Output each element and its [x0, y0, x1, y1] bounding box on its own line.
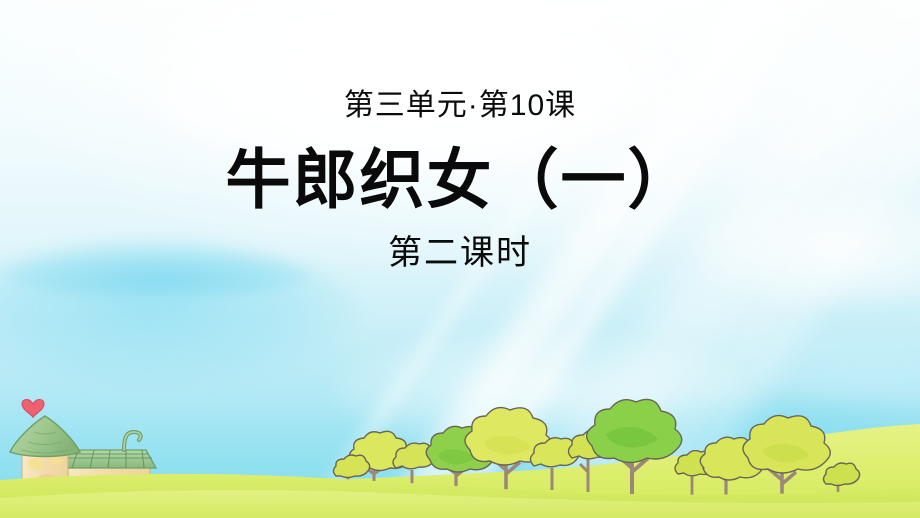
page-subtitle: 第二课时 [0, 230, 920, 276]
ground-foreground [0, 458, 920, 518]
page-title: 牛郎织女（一） [0, 140, 920, 220]
heart-icon [22, 400, 44, 419]
chimney [124, 432, 141, 450]
house-cone-roof [10, 416, 80, 457]
slide-canvas: 第三单元·第10课 牛郎织女（一） 第二课时 [0, 0, 920, 518]
unit-lesson-label: 第三单元·第10课 [0, 86, 920, 126]
title-block: 第三单元·第10课 牛郎织女（一） 第二课时 [0, 86, 920, 276]
